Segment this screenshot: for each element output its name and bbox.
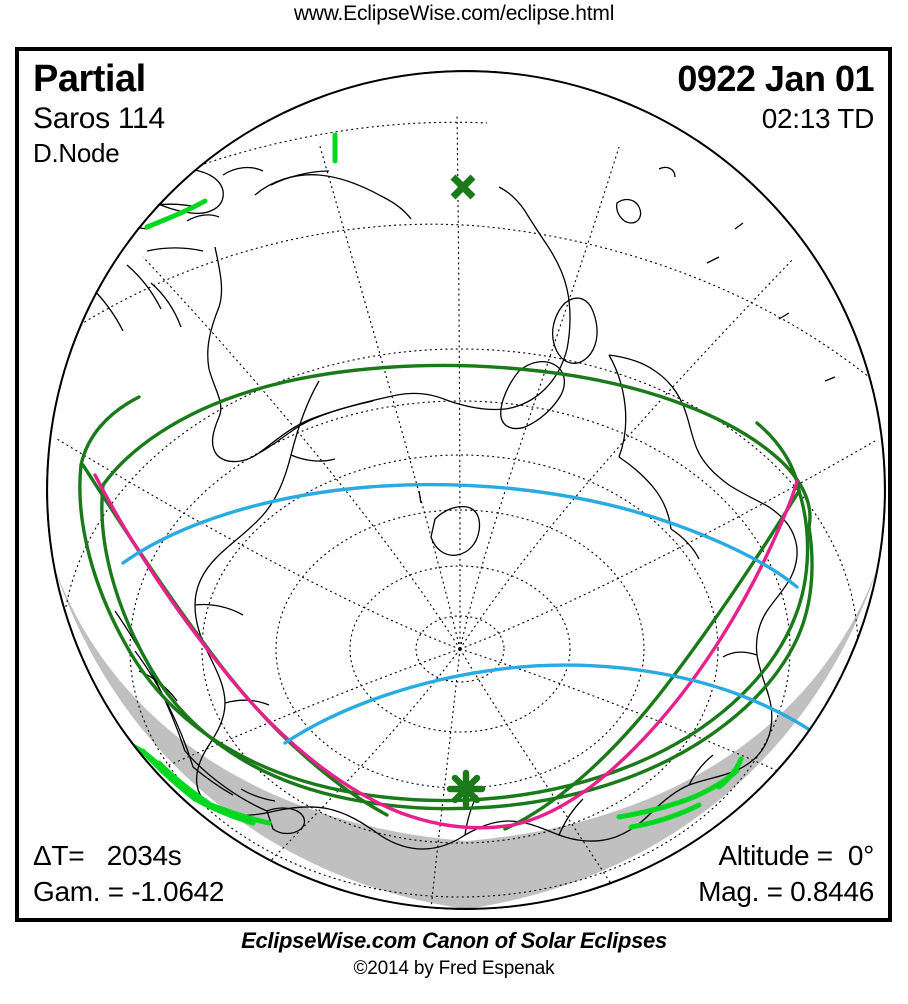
gamma-row: Gam. = -1.0642 [33, 874, 224, 910]
globe-map [19, 51, 888, 918]
stats-right: Altitude = 0° Mag. = 0.8446 [698, 838, 874, 910]
footer-title: EclipseWise.com Canon of Solar Eclipses [0, 928, 908, 954]
altitude-label: Altitude = [718, 840, 833, 871]
eclipse-time-label: 02:13 TD [677, 101, 874, 137]
greatest-eclipse-marker [450, 773, 482, 805]
altitude-row: Altitude = 0° [698, 838, 874, 874]
delta-t-row: ΔT= 2034s [33, 838, 224, 874]
highlighted-coastlines [131, 135, 741, 827]
saros-label: Saros 114 [33, 101, 165, 137]
stats-left: ΔT= 2034s Gam. = -1.0642 [33, 838, 224, 910]
delta-t-label: ΔT= [33, 840, 84, 871]
magnitude-value: 0.8446 [790, 876, 874, 907]
altitude-value: 0° [848, 840, 874, 871]
eclipse-date-label: 0922 Jan 01 [677, 57, 874, 101]
graticule-equator [41, 122, 881, 387]
gamma-label: Gam. = [33, 876, 124, 907]
footer: EclipseWise.com Canon of Solar Eclipses … [0, 928, 908, 980]
delta-t-value: 2034s [107, 840, 182, 871]
footer-copyright: ©2014 by Fred Espenak [0, 958, 908, 980]
eclipse-diagram-frame: Partial Saros 114 D.Node 0922 Jan 01 02:… [15, 47, 892, 922]
node-label: D.Node [33, 137, 165, 169]
subsolar-point-marker [453, 177, 473, 197]
url-bar: www.EclipseWise.com/eclipse.html [0, 2, 908, 26]
header-right: 0922 Jan 01 02:13 TD [677, 57, 874, 137]
magnitude-row: Mag. = 0.8446 [698, 874, 874, 910]
gamma-value: -1.0642 [131, 876, 224, 907]
magnitude-label: Mag. = [698, 876, 783, 907]
header-left: Partial Saros 114 D.Node [33, 57, 165, 169]
eclipse-type-label: Partial [33, 57, 165, 101]
